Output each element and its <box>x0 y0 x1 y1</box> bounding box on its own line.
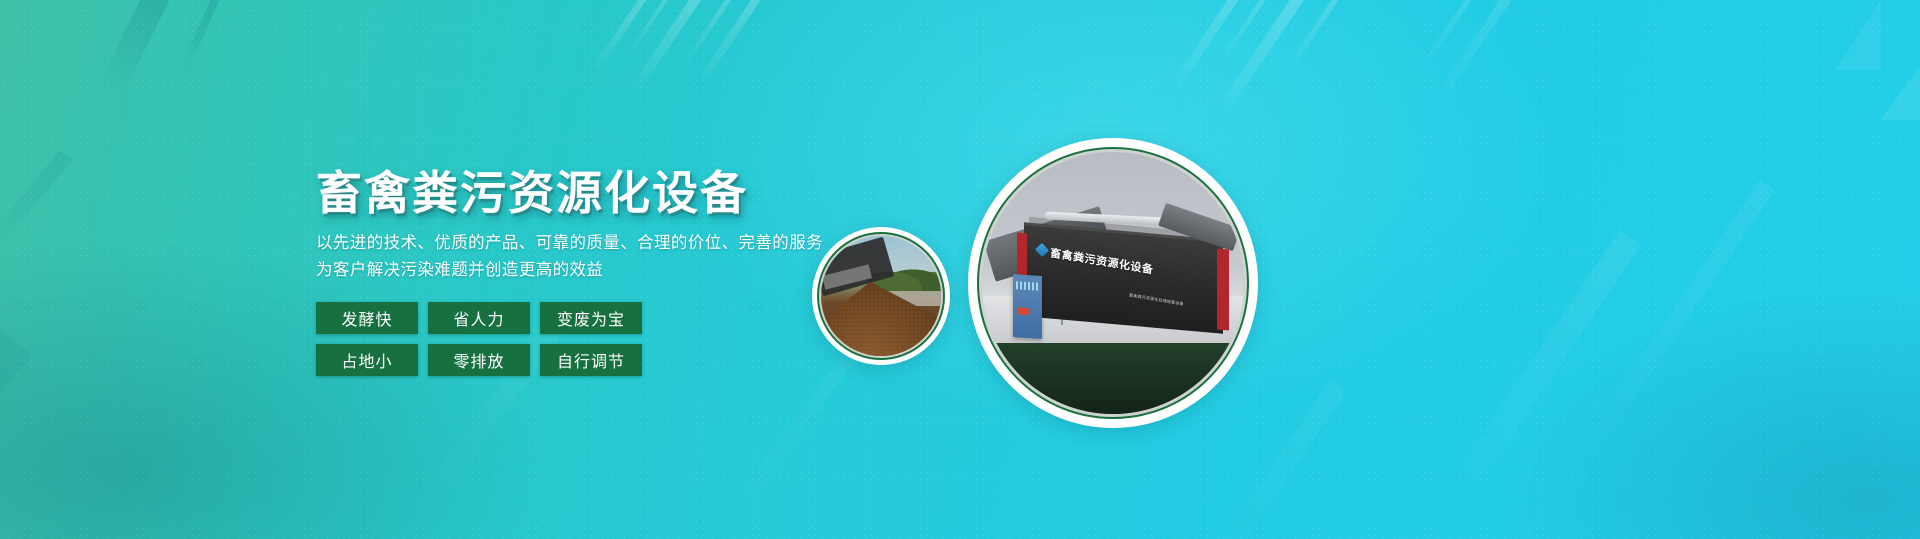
light-streak <box>1173 0 1276 86</box>
compost-scene <box>821 236 941 356</box>
equipment-photo-circle[interactable]: 畜禽粪污资源化设备 畜禽粪污资源化处理成套设备 <box>968 138 1258 428</box>
corner-wedge <box>1880 0 1920 120</box>
background-vignette <box>0 0 1920 539</box>
light-streak <box>632 0 724 90</box>
compost-photo-circle[interactable] <box>812 227 950 365</box>
light-streak <box>0 150 72 260</box>
banner-subtitle: 以先进的技术、优质的产品、可靠的质量、合理的价位、完善的服务 为客户解决污染难题… <box>316 230 876 283</box>
compost-photo <box>821 236 941 356</box>
light-streak <box>1452 230 1641 493</box>
equipment-scene: 畜禽粪污资源化设备 畜禽粪污资源化处理成套设备 <box>982 152 1244 414</box>
light-streak <box>1218 0 1340 113</box>
feature-badge[interactable]: 变废为宝 <box>540 302 642 334</box>
banner-title: 畜禽粪污资源化设备 <box>316 166 876 220</box>
background-noise-texture <box>0 0 1920 539</box>
equipment-photo-ring: 畜禽粪污资源化设备 畜禽粪污资源化处理成套设备 <box>977 147 1249 419</box>
hero-banner: 畜禽粪污资源化设备 以先进的技术、优质的产品、可靠的质量、合理的价位、完善的服务… <box>0 0 1920 539</box>
feature-badge[interactable]: 占地小 <box>316 344 418 376</box>
light-streak <box>1421 0 1510 68</box>
light-streak <box>592 0 670 72</box>
corner-wedge <box>1835 0 1881 70</box>
light-streak <box>1288 0 1377 68</box>
equipment-red-panel-right <box>1217 248 1229 330</box>
banner-subtitle-line-2: 为客户解决污染难题并创造更高的效益 <box>316 257 876 284</box>
light-streak <box>1439 0 1548 95</box>
light-streak <box>700 0 785 81</box>
light-streak <box>0 330 32 512</box>
compost-photo-ring <box>817 232 945 360</box>
banner-subtitle-line-1: 以先进的技术、优质的产品、可靠的质量、合理的价位、完善的服务 <box>316 230 876 257</box>
equipment-cabinet-indicator-lights <box>1016 281 1040 291</box>
light-streak <box>97 0 173 99</box>
light-streak <box>1222 0 1304 59</box>
light-streak <box>685 0 756 62</box>
background-light-streaks <box>0 0 1920 539</box>
light-streak <box>1581 180 1775 455</box>
equipment-grass <box>982 343 1244 414</box>
feature-badge[interactable]: 省人力 <box>428 302 530 334</box>
feature-badge[interactable]: 自行调节 <box>540 344 642 376</box>
light-streak <box>628 0 693 53</box>
light-streak <box>178 0 222 75</box>
feature-badge[interactable]: 发酵快 <box>316 302 418 334</box>
equipment-photo: 畜禽粪污资源化设备 畜禽粪污资源化处理成套设备 <box>982 152 1244 414</box>
banner-copy: 畜禽粪污资源化设备 以先进的技术、优质的产品、可靠的质量、合理的价位、完善的服务… <box>316 166 876 376</box>
feature-badge[interactable]: 零排放 <box>428 344 530 376</box>
feature-badge-grid: 发酵快 省人力 变废为宝 占地小 零排放 自行调节 <box>316 302 876 376</box>
